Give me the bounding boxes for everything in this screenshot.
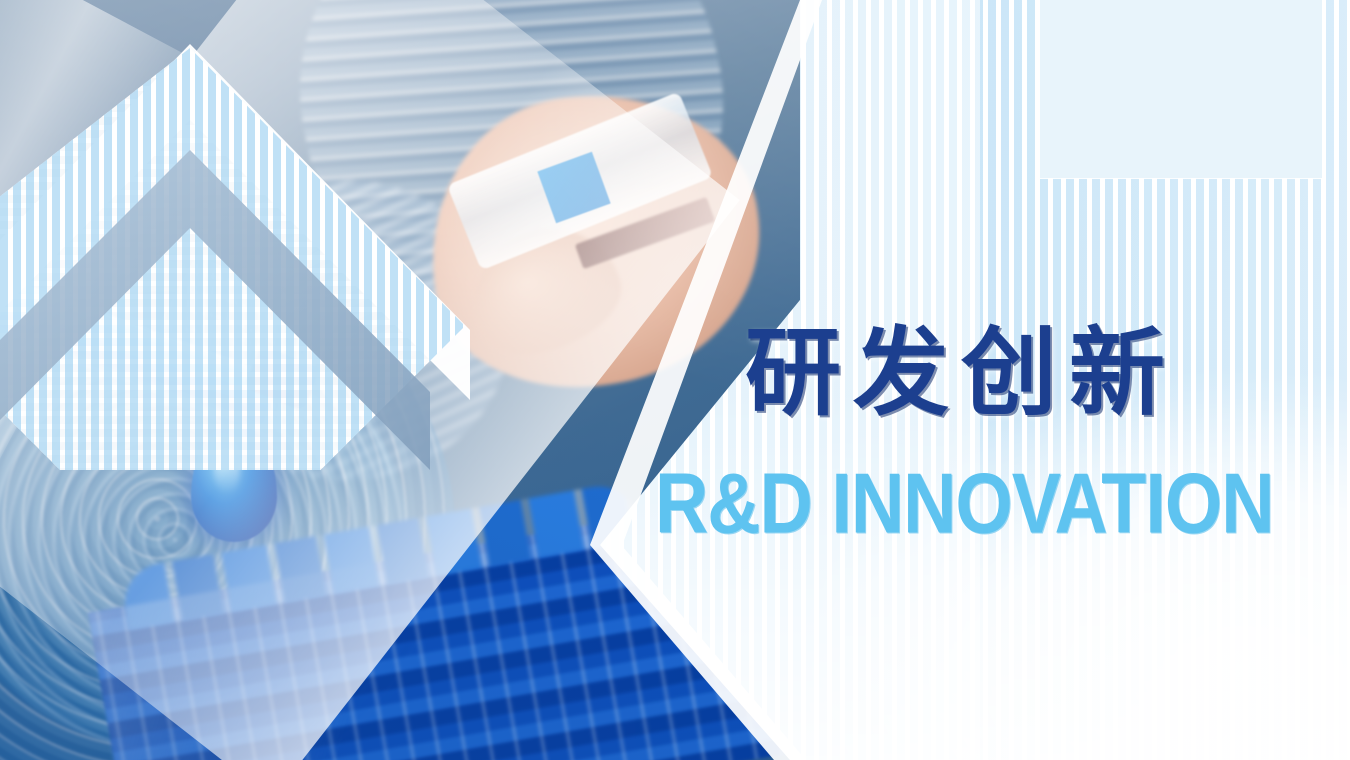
photo-montage — [0, 0, 800, 760]
page-subtitle: R&D INNOVATION — [655, 462, 1273, 547]
page-title: 研发创新 — [745, 325, 1177, 421]
rd-innovation-banner: 研发创新 R&D INNOVATION 恒瑞 — [0, 0, 1350, 760]
photo-color-wash — [0, 0, 800, 760]
logo-container[interactable]: 恒瑞 — [1040, 0, 1322, 178]
